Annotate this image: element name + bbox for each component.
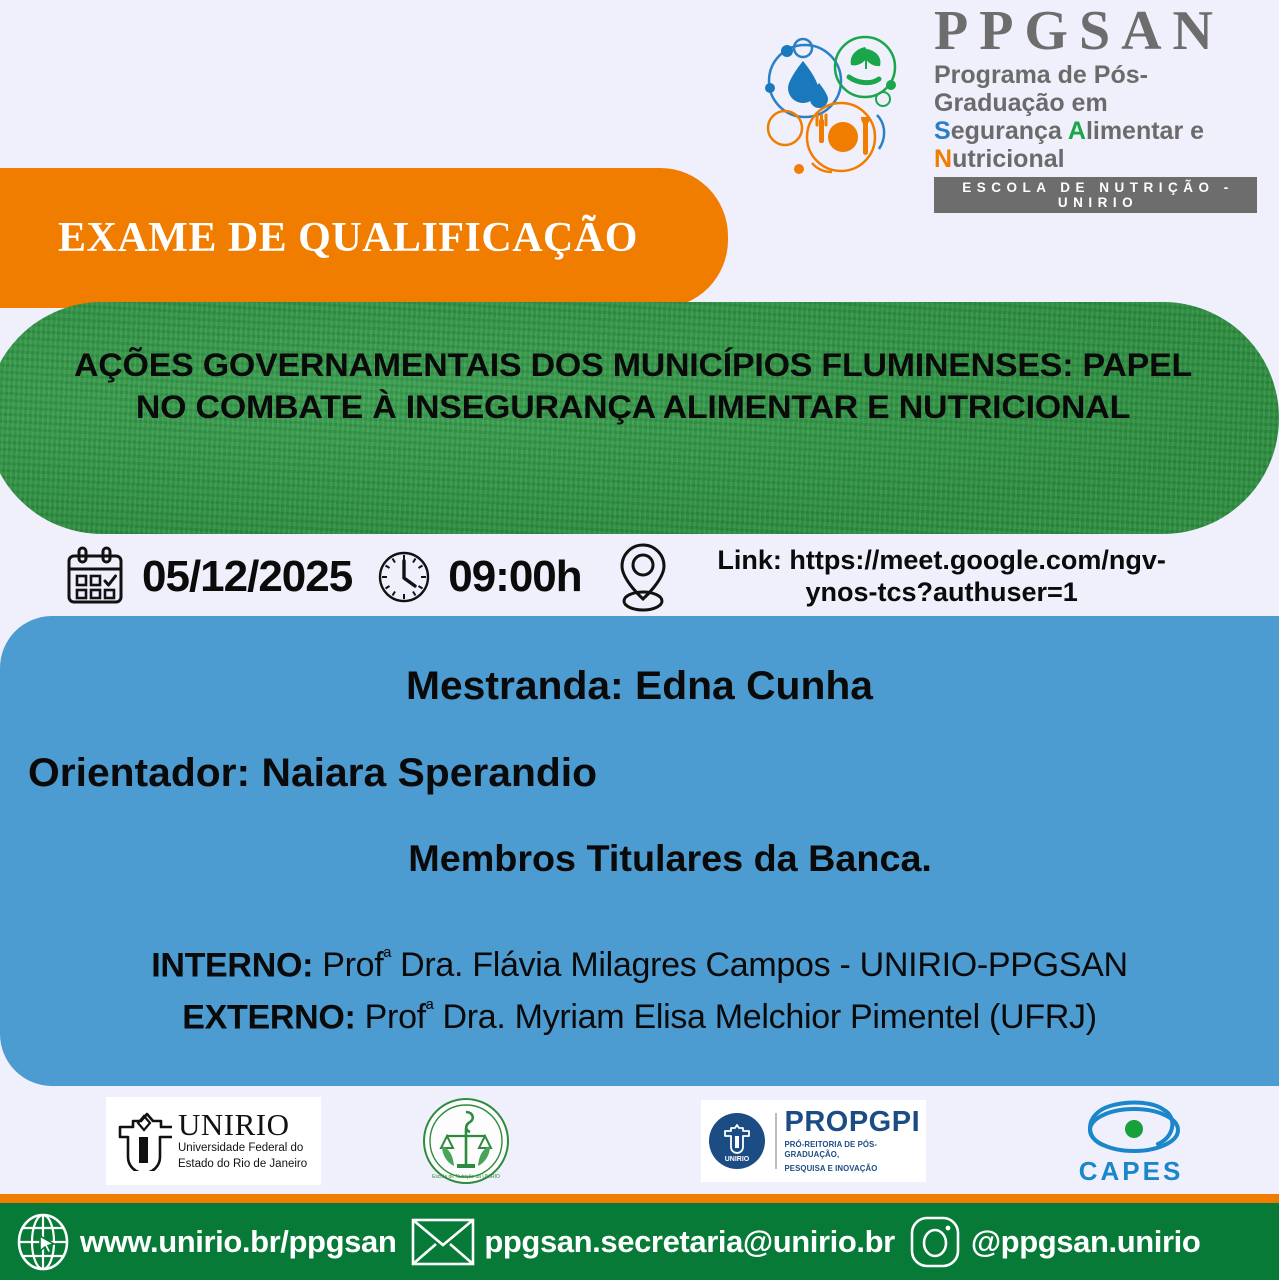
details-panel: Mestranda: Edna Cunha Orientador: Naiara… <box>0 616 1279 1086</box>
advisor-label: Orientador: Naiara Sperandio <box>28 751 597 796</box>
poster: PPGSAN Programa de Pós-Graduação em Segu… <box>0 0 1279 1280</box>
ppgsan-acronym: PPGSAN <box>934 3 1257 59</box>
ppgsan-school-bar: ESCOLA DE NUTRIÇÃO - UNIRIO <box>934 177 1257 213</box>
propgpi-sub-1: PRÓ-REITORIA DE PÓS-GRADUAÇÃO, <box>785 1140 921 1160</box>
ppgsan-utricional: utricional <box>952 145 1065 173</box>
capes-name: CAPES <box>1079 1156 1184 1187</box>
propgpi-seal-label: UNIRIO <box>725 1156 750 1163</box>
event-link-text: Link: https://meet.google.com/ngv-ynos-t… <box>686 545 1198 609</box>
footer-accent-strip <box>0 1194 1279 1203</box>
escola-nutricao-logo: Escola de Nutrição da UNIRIO <box>421 1096 511 1186</box>
footer-website-text: www.unirio.br/ppgsan <box>80 1224 396 1260</box>
footer-instagram-text: @ppgsan.unirio <box>971 1224 1201 1260</box>
board-member-external-role: EXTERNO: <box>182 998 355 1036</box>
member-name-rest: Dra. Flávia Milagres Campos - UNIRIO-PPG… <box>391 946 1128 984</box>
event-date-text: 05/12/2025 <box>142 552 352 602</box>
unirio-logo: UNIRIO Universidade Federal do Estado do… <box>106 1097 321 1185</box>
event-type-label: EXAME DE QUALIFICAÇÃO <box>0 214 638 262</box>
globe-icon <box>14 1212 72 1272</box>
student-label: Mestranda: Edna Cunha <box>0 664 1279 709</box>
thesis-title-banner: AÇÕES GOVERNAMENTAIS DOS MUNICÍPIOS FLUM… <box>0 302 1279 534</box>
unirio-mark-icon <box>116 1111 172 1171</box>
ppgsan-eguranca: egurança <box>951 117 1068 145</box>
footer-contact-bar: www.unirio.br/ppgsan ppgsan.secretaria@u… <box>0 1203 1279 1280</box>
prof-ordinal: ª <box>383 946 391 969</box>
prof-abbr: Prof <box>365 998 426 1036</box>
unirio-name: UNIRIO <box>178 1111 307 1140</box>
ppgsan-emblem-icon <box>757 33 922 183</box>
footer-website[interactable]: www.unirio.br/ppgsan <box>14 1212 396 1272</box>
ppgsan-tagline-2: Segurança Alimentar e Nutricional <box>934 117 1257 173</box>
board-member-internal: INTERNO: Profª Dra. Flávia Milagres Camp… <box>0 946 1279 985</box>
escola-caption: Escola de Nutrição da UNIRIO <box>432 1174 500 1180</box>
event-type-banner: EXAME DE QUALIFICAÇÃO <box>0 168 728 308</box>
board-member-external-name: Profª Dra. Myriam Elisa Melchior Pimente… <box>365 998 1097 1036</box>
ppgsan-n: N <box>934 145 952 173</box>
event-info-row: 05/12/2025 09:00h <box>0 534 1279 620</box>
event-time: 09:00h <box>374 547 581 607</box>
ppgsan-tagline-1: Programa de Pós-Graduação em <box>934 61 1257 117</box>
envelope-icon <box>410 1216 476 1268</box>
ppgsan-s: S <box>934 117 951 145</box>
board-member-external: EXTERNO: Profª Dra. Myriam Elisa Melchio… <box>0 998 1279 1037</box>
escola-nutricao-seal-icon: Escola de Nutrição da UNIRIO <box>421 1096 511 1186</box>
instagram-icon <box>907 1213 963 1271</box>
event-time-text: 09:00h <box>448 552 581 602</box>
propgpi-divider <box>775 1113 777 1169</box>
propgpi-sub-2: PESQUISA E INOVAÇÃO <box>785 1164 921 1174</box>
clock-icon <box>374 547 434 607</box>
footer-instagram[interactable]: @ppgsan.unirio <box>907 1213 1201 1271</box>
board-heading: Membros Titulares da Banca. <box>0 838 1279 880</box>
capes-mark-icon <box>1076 1096 1186 1158</box>
ppgsan-logo: PPGSAN Programa de Pós-Graduação em Segu… <box>757 30 1257 185</box>
location-pin-icon <box>612 540 674 614</box>
footer-email-text: ppgsan.secretaria@unirio.br <box>484 1224 895 1260</box>
unirio-sub-1: Universidade Federal do <box>178 1141 307 1155</box>
event-link[interactable]: Link: https://meet.google.com/ngv-ynos-t… <box>612 540 1198 614</box>
thesis-title-line-2: NO COMBATE À INSEGURANÇA ALIMENTAR E NUT… <box>135 389 1129 425</box>
board-member-internal-name: Profª Dra. Flávia Milagres Campos - UNIR… <box>322 946 1128 984</box>
thesis-title-line-1: AÇÕES GOVERNAMENTAIS DOS MUNICÍPIOS FLUM… <box>73 347 1191 383</box>
footer-email[interactable]: ppgsan.secretaria@unirio.br <box>410 1216 895 1268</box>
ppgsan-a: A <box>1068 117 1086 145</box>
prof-abbr: Prof <box>322 946 383 984</box>
event-date: 05/12/2025 <box>62 544 352 610</box>
propgpi-name: PROPGPI <box>785 1108 921 1137</box>
propgpi-logo: UNIRIO PROPGPI PRÓ-REITORIA DE PÓS-GRADU… <box>701 1100 926 1182</box>
member-name-rest: Dra. Myriam Elisa Melchior Pimentel (UFR… <box>433 998 1096 1036</box>
partner-logos: UNIRIO Universidade Federal do Estado do… <box>0 1086 1279 1196</box>
calendar-icon <box>62 544 128 610</box>
thesis-title: AÇÕES GOVERNAMENTAIS DOS MUNICÍPIOS FLUM… <box>0 302 1274 428</box>
board-member-internal-role: INTERNO: <box>151 946 313 984</box>
capes-logo: CAPES <box>1076 1096 1186 1187</box>
unirio-sub-2: Estado do Rio de Janeiro <box>178 1157 307 1171</box>
ppgsan-limentar: limentar e <box>1086 117 1204 145</box>
propgpi-seal-icon: UNIRIO <box>707 1111 767 1171</box>
